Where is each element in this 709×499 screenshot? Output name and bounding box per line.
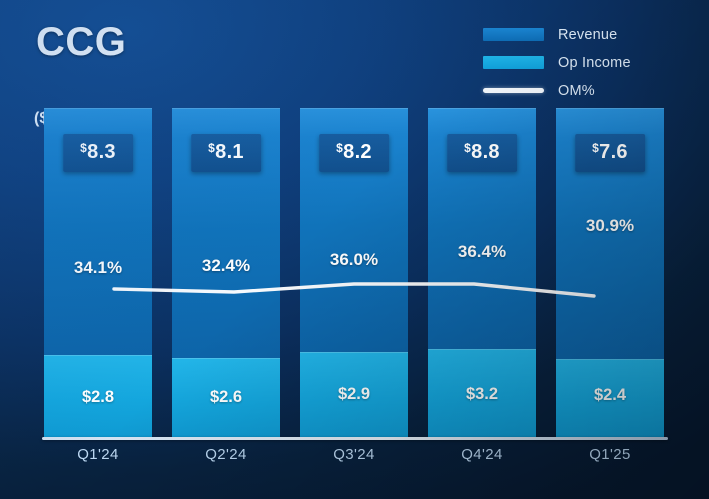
revenue-value-badge: $7.6: [575, 134, 645, 172]
bar-column-q1-24[interactable]: $8.3 34.1% $2.8: [44, 108, 152, 438]
legend-swatch-icon-op-income: [483, 56, 544, 69]
legend-item-revenue[interactable]: Revenue: [483, 27, 631, 42]
revenue-segment[interactable]: $7.6 30.9%: [556, 108, 664, 359]
currency-symbol: $: [336, 141, 343, 155]
revenue-value-text: 8.2: [343, 141, 372, 163]
legend-label-revenue: Revenue: [558, 27, 617, 43]
bar-column-q2-24[interactable]: $8.1 32.4% $2.6: [172, 108, 280, 438]
legend-item-om-percent[interactable]: OM%: [483, 83, 631, 98]
op-income-value-label: $3.2: [466, 385, 498, 404]
x-tick-q3-24: Q3'24: [300, 446, 408, 463]
om-percent-label: 32.4%: [202, 256, 250, 276]
currency-symbol: $: [80, 141, 87, 155]
revenue-value-text: 8.8: [471, 141, 500, 163]
op-income-segment[interactable]: $2.8: [44, 355, 152, 438]
op-income-segment[interactable]: $3.2: [428, 349, 536, 438]
op-income-segment[interactable]: $2.9: [300, 352, 408, 438]
om-percent-label: 36.0%: [330, 250, 378, 270]
om-percent-label: 36.4%: [458, 242, 506, 262]
currency-symbol: $: [592, 141, 599, 155]
op-income-value-label: $2.4: [594, 386, 626, 405]
revenue-segment[interactable]: $8.2 36.0%: [300, 108, 408, 352]
currency-symbol: $: [464, 141, 471, 155]
chart-canvas: CCG Revenue Op Income OM% ($B) $8.3 34.1…: [0, 0, 709, 499]
bar-group: $8.3 34.1% $2.8 $8.1 32.4% $2.6: [44, 108, 664, 438]
op-income-segment[interactable]: $2.6: [172, 358, 280, 438]
x-tick-q1-24: Q1'24: [44, 446, 152, 463]
bar-column-q4-24[interactable]: $8.8 36.4% $3.2: [428, 108, 536, 438]
legend-swatch-icon-revenue: [483, 28, 544, 41]
op-income-value-label: $2.9: [338, 385, 370, 404]
x-axis-line: [42, 437, 668, 440]
x-tick-q1-25: Q1'25: [556, 446, 664, 463]
plot-area: $8.3 34.1% $2.8 $8.1 32.4% $2.6: [44, 108, 664, 438]
revenue-segment[interactable]: $8.3 34.1%: [44, 108, 152, 355]
currency-symbol: $: [208, 141, 215, 155]
legend-label-op-income: Op Income: [558, 55, 631, 71]
legend-label-om-percent: OM%: [558, 83, 595, 99]
legend-line-icon-om-percent: [483, 88, 544, 93]
revenue-value-text: 7.6: [599, 141, 628, 163]
op-income-value-label: $2.8: [82, 388, 114, 407]
om-percent-label: 30.9%: [586, 216, 634, 236]
revenue-value-text: 8.3: [87, 141, 116, 163]
revenue-value-badge: $8.3: [63, 134, 133, 172]
chart-legend: Revenue Op Income OM%: [483, 27, 631, 98]
om-percent-label: 34.1%: [74, 258, 122, 278]
revenue-value-text: 8.1: [215, 141, 244, 163]
bar-column-q1-25[interactable]: $7.6 30.9% $2.4: [556, 108, 664, 438]
revenue-segment[interactable]: $8.8 36.4%: [428, 108, 536, 349]
x-axis-tick-labels: Q1'24 Q2'24 Q3'24 Q4'24 Q1'25: [44, 446, 664, 463]
op-income-segment[interactable]: $2.4: [556, 359, 664, 438]
op-income-value-label: $2.6: [210, 388, 242, 407]
legend-item-op-income[interactable]: Op Income: [483, 55, 631, 70]
revenue-value-badge: $8.2: [319, 134, 389, 172]
revenue-value-badge: $8.1: [191, 134, 261, 172]
x-tick-q4-24: Q4'24: [428, 446, 536, 463]
page-title: CCG: [36, 20, 126, 65]
revenue-segment[interactable]: $8.1 32.4%: [172, 108, 280, 358]
bar-column-q3-24[interactable]: $8.2 36.0% $2.9: [300, 108, 408, 438]
revenue-value-badge: $8.8: [447, 134, 517, 172]
x-tick-q2-24: Q2'24: [172, 446, 280, 463]
